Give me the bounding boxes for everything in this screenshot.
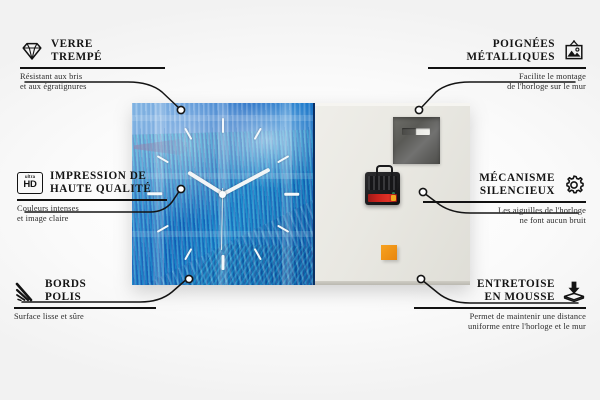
feature-subtitle-line2: uniforme entre l'horloge et le mur xyxy=(398,322,586,332)
infographic-canvas: VERRE TREMPÉ Résistant aux bris et aux é… xyxy=(0,0,600,400)
feature-entretoise-en-mousse[interactable]: ENTRETOISE EN MOUSSE Permet de maintenir… xyxy=(398,278,586,333)
feature-title-line2: MÉTALLIQUES xyxy=(466,51,555,64)
feature-subtitle-line1: Permet de maintenir une distance xyxy=(398,312,586,322)
hour-marker xyxy=(222,255,225,270)
feature-title-line1: BORDS xyxy=(45,278,86,291)
feature-title-line1: IMPRESSION DE xyxy=(50,170,151,183)
feature-divider xyxy=(423,201,586,203)
feature-subtitle-line1: Résistant aux bris xyxy=(20,72,185,82)
metal-hanger-plate xyxy=(393,117,440,164)
ultra-hd-large-text: HD xyxy=(23,180,36,190)
feature-header: ultra HD IMPRESSION DE HAUTE QUALITÉ xyxy=(17,170,192,195)
battery xyxy=(368,194,397,202)
feature-impression-haute-qualite[interactable]: ultra HD IMPRESSION DE HAUTE QUALITÉ Cou… xyxy=(17,170,192,225)
feature-bords-polis[interactable]: BORDS POLIS Surface lisse et sûre xyxy=(14,278,179,322)
feature-header: MÉCANISME SILENCIEUX xyxy=(405,172,586,197)
feature-title-line2: HAUTE QUALITÉ xyxy=(50,183,151,196)
diamond-icon xyxy=(20,39,44,63)
feature-subtitle-line1: Surface lisse et sûre xyxy=(14,312,179,322)
hour-marker xyxy=(284,193,299,196)
clock-center-hub xyxy=(219,191,226,198)
foam-spacer xyxy=(381,245,397,260)
feature-title-line1: VERRE xyxy=(51,38,102,51)
feature-title-line2: SILENCIEUX xyxy=(479,185,555,198)
keyhole-slot xyxy=(402,128,430,135)
foam-spacer-icon xyxy=(562,279,586,303)
ultra-hd-badge-icon: ultra HD xyxy=(17,172,43,194)
feature-poignees-metalliques[interactable]: POIGNÉES MÉTALLIQUES Facilite le montage… xyxy=(410,38,586,93)
feature-title-line2: TREMPÉ xyxy=(51,51,102,64)
feature-title-line2: EN MOUSSE xyxy=(477,291,555,304)
feature-subtitle-line1: Les aiguilles de l'horloge xyxy=(405,206,586,216)
feature-divider xyxy=(17,199,167,201)
quartz-mechanism xyxy=(365,172,400,205)
feature-title-line1: POIGNÉES xyxy=(466,38,555,51)
feature-verre-trempe[interactable]: VERRE TREMPÉ Résistant aux bris et aux é… xyxy=(20,38,185,93)
polished-edges-icon xyxy=(14,279,38,303)
feature-header: ENTRETOISE EN MOUSSE xyxy=(398,278,586,303)
battery-plus-terminal xyxy=(391,195,396,201)
feature-divider xyxy=(414,307,586,309)
feature-subtitle-line1: Couleurs intenses xyxy=(17,204,192,214)
hanging-frame-icon xyxy=(562,39,586,63)
feature-mecanisme-silencieux[interactable]: MÉCANISME SILENCIEUX Les aiguilles de l'… xyxy=(405,172,586,227)
feature-header: BORDS POLIS xyxy=(14,278,179,303)
mechanism-ribs xyxy=(368,176,397,190)
feature-header: POIGNÉES MÉTALLIQUES xyxy=(410,38,586,63)
hour-marker xyxy=(222,118,225,133)
feature-subtitle-line2: et image claire xyxy=(17,214,192,224)
gear-icon xyxy=(562,173,586,197)
back-panel-top-edge xyxy=(315,103,470,106)
feature-header: VERRE TREMPÉ xyxy=(20,38,185,63)
feature-divider xyxy=(14,307,156,309)
hanger-loop xyxy=(376,165,393,176)
feature-subtitle-line2: de l'horloge sur le mur xyxy=(410,82,586,92)
feature-title-line1: MÉCANISME xyxy=(479,172,555,185)
feature-title-line2: POLIS xyxy=(45,291,86,304)
feature-subtitle-line1: Facilite le montage xyxy=(410,72,586,82)
feature-title-line1: ENTRETOISE xyxy=(477,278,555,291)
feature-subtitle-line2: ne font aucun bruit xyxy=(405,216,586,226)
feature-subtitle-line2: et aux égratignures xyxy=(20,82,185,92)
feature-divider xyxy=(428,67,586,69)
feature-divider xyxy=(20,67,165,69)
highlight-glow xyxy=(204,103,315,194)
